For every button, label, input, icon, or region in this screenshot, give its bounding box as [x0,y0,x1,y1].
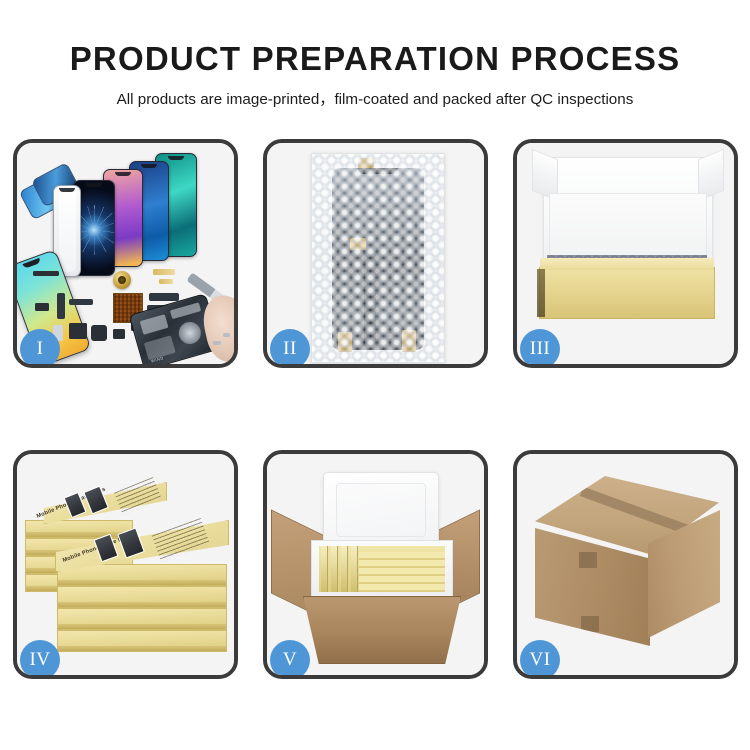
panel-step-1: WIND I [13,139,238,368]
header: PRODUCT PREPARATION PROCESS All products… [0,0,750,107]
step-badge: III [520,329,560,368]
bubble-bag-icon [311,153,445,363]
page-title: PRODUCT PREPARATION PROCESS [0,42,750,75]
foam-lid-icon [323,472,439,546]
gold-contact-icon [159,279,173,284]
panel-step-3: III [513,139,738,368]
small-part-icon [35,303,49,311]
panel-step-4: Mobile Phone Spare Parts Mobile Phone Sp… [13,450,238,679]
panel-step-5: V [263,450,488,679]
vibrator-icon [113,329,125,339]
kraft-box-body-icon [539,267,715,319]
screw-icon [213,341,221,345]
box-stack-icon: Mobile Phone Spare Parts Mobile Phone Sp… [25,468,231,668]
product-preparation-infographic: PRODUCT PREPARATION PROCESS All products… [0,0,750,750]
box-side-shadow-icon [537,269,545,317]
speaker-coil-icon [113,271,131,289]
box-text-lines [114,477,162,515]
bubble-texture-overlay-icon [312,154,444,362]
carton-tab-icon [579,552,597,568]
step-badge: II [270,329,310,368]
carton-body-icon [303,596,461,664]
step-badge: I [20,329,60,368]
carton-tab-icon [581,616,599,632]
process-step-grid: WIND I [13,139,739,679]
step-badge: V [270,640,310,679]
inner-boxes-icon [319,546,445,592]
camera-module-icon [91,325,107,341]
inner-boxes-flat-icon [359,552,445,592]
panel-step-2: II [263,139,488,368]
connector-icon [69,323,87,339]
flex-cable-3-icon [149,293,179,301]
step-badge: VI [520,640,560,679]
flex-cable-icon [57,293,65,319]
screw-2-icon [223,333,230,337]
flex-cable-2-icon [69,299,93,305]
part-strip-icon [33,271,59,276]
panel-step-6: VI [513,450,738,679]
gold-flex-icon [153,269,175,275]
page-subtitle: All products are image-printed，film-coat… [0,92,750,107]
stacked-box [57,586,227,608]
stacked-box [57,630,227,652]
stacked-box [57,608,227,630]
step-badge: IV [20,640,60,679]
box-text-lines [152,518,210,562]
